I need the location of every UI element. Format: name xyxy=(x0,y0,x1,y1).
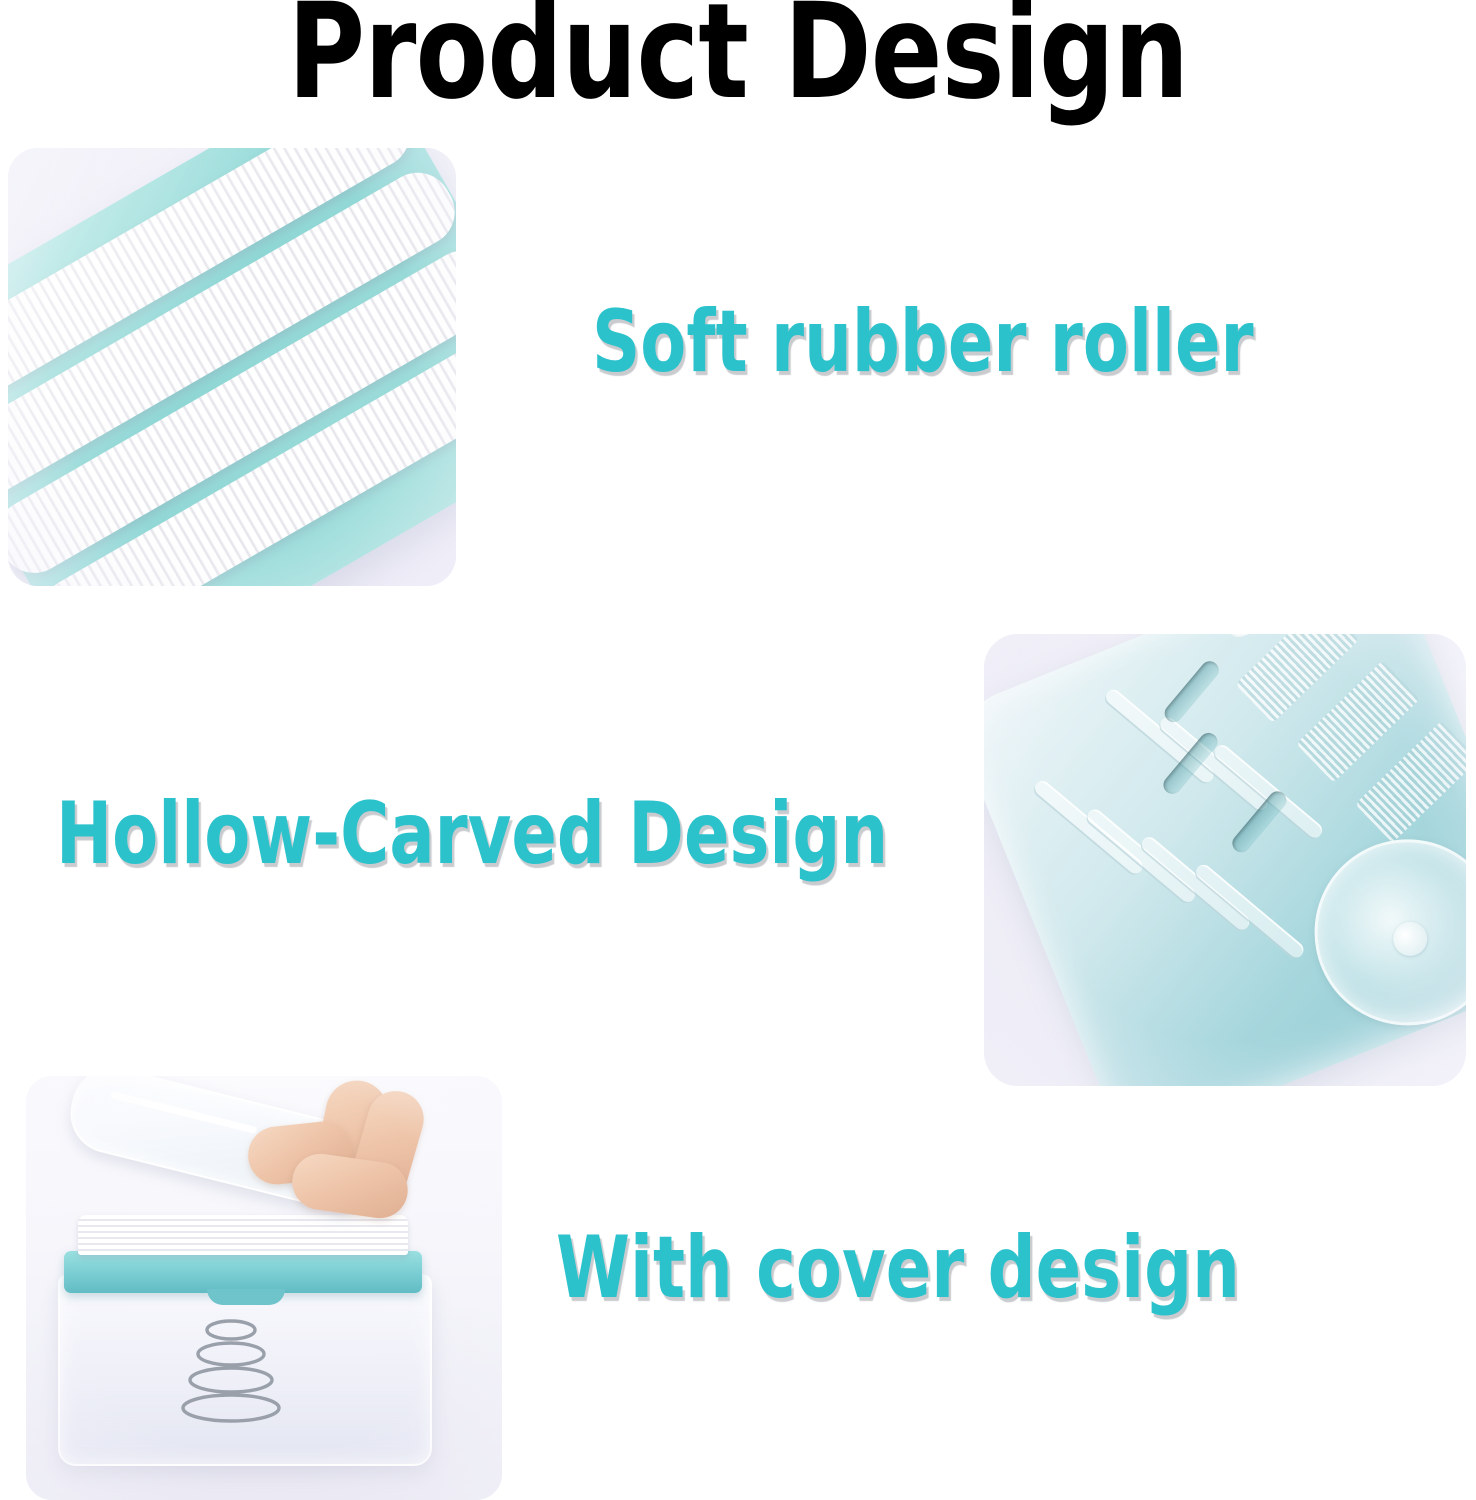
drain-hole xyxy=(1161,658,1222,726)
product-design-infographic: Product Design Soft rubber roller xyxy=(0,0,1476,1500)
feature-caption-with-cover-design: With cover design xyxy=(556,1222,1240,1314)
roller-closeup-photo xyxy=(8,148,456,586)
cover-lift-scene xyxy=(26,1076,502,1500)
carved-slot xyxy=(1031,778,1146,878)
carved-slot xyxy=(1156,714,1271,814)
hand xyxy=(232,1080,442,1240)
page-title: Product Design xyxy=(148,0,1329,114)
mint-tray xyxy=(64,1251,422,1293)
carved-slot xyxy=(1083,806,1198,906)
cover-lift-photo xyxy=(26,1076,502,1500)
coil-spring-icon xyxy=(172,1314,290,1432)
corner-drain-hole xyxy=(1219,634,1271,644)
carved-slot xyxy=(1192,861,1307,961)
feature-caption-hollow-carved-design: Hollow-Carved Design xyxy=(56,788,888,880)
feature-caption-soft-rubber-roller: Soft rubber roller xyxy=(592,296,1254,388)
hollow-carved-base-photo xyxy=(984,634,1466,1086)
roller-closeup-scene xyxy=(8,148,456,586)
suction-disc xyxy=(1287,811,1466,1053)
hollow-carved-scene xyxy=(984,634,1466,1086)
